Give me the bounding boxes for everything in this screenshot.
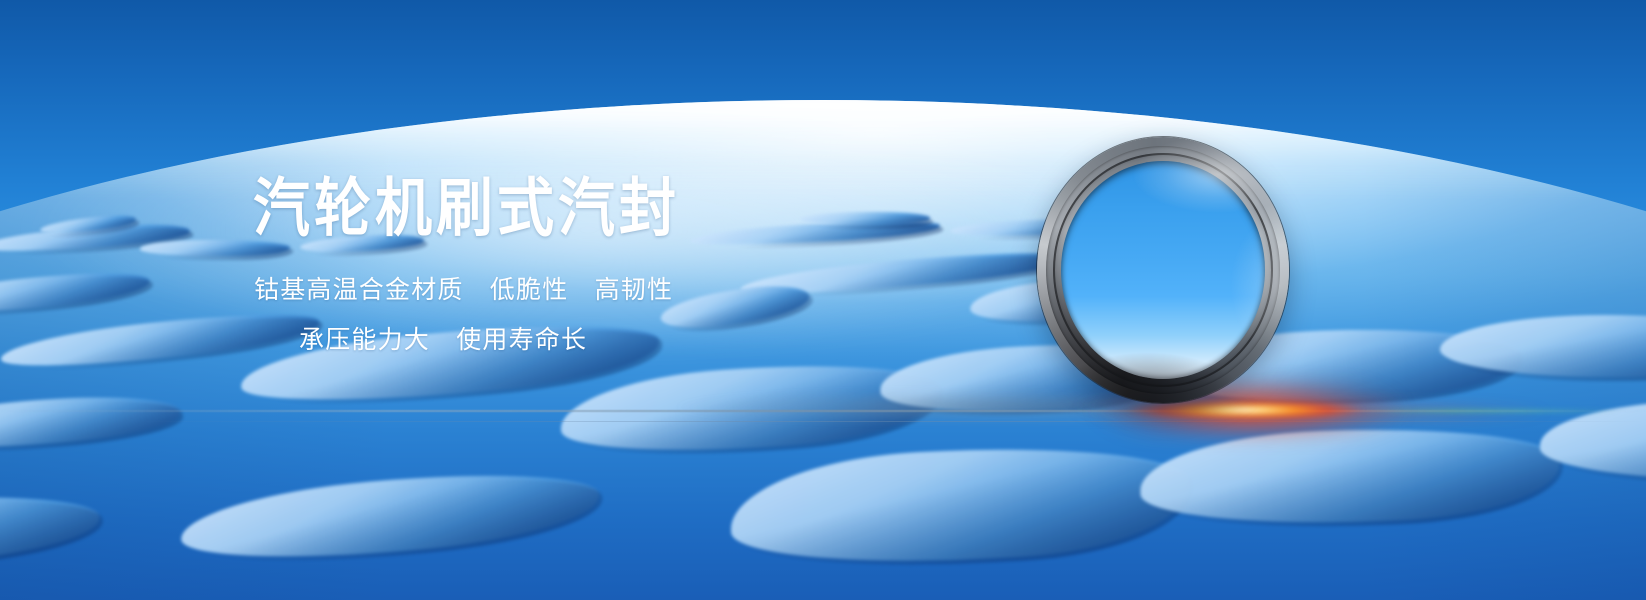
feature-line-1: 钴基高温合金材质 低脆性 高韧性 [254,270,673,306]
promo-banner: 汽轮机刷式汽封 钴基高温合金材质 低脆性 高韧性 承压能力大 使用寿命长 [0,0,1646,600]
atmosphere-rim [0,100,1646,214]
ring-outer-body [1037,137,1289,403]
landmass [727,438,1192,572]
ring-aperture [1061,161,1265,379]
earth-globe-icon [0,100,1646,600]
feature-line-2: 承压能力大 使用寿命长 [299,320,587,356]
page-title: 汽轮机刷式汽封 [253,176,680,243]
globe-surface [0,100,1646,600]
metal-seal-ring-icon [1037,137,1289,403]
